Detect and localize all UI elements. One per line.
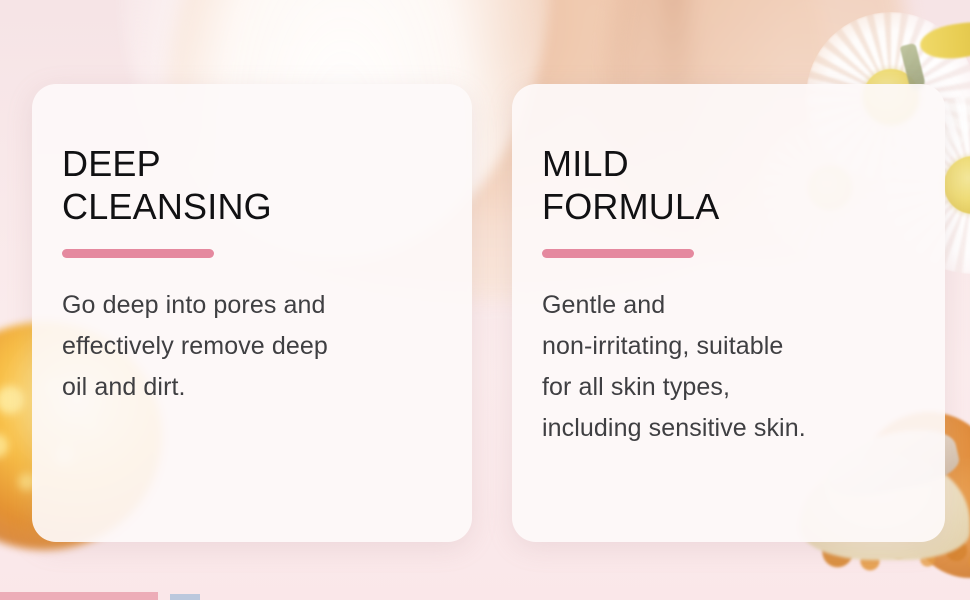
- feature-card-mild-formula[interactable]: MILD FORMULA Gentle and non-irritating, …: [512, 84, 945, 542]
- accent-rule: [542, 249, 694, 258]
- accent-rule: [62, 249, 214, 258]
- bottom-accent-chip: [170, 594, 200, 600]
- feature-cards-row: DEEP CLEANSING Go deep into pores and ef…: [0, 0, 970, 600]
- card-content: DEEP CLEANSING Go deep into pores and ef…: [62, 142, 426, 408]
- card-content: MILD FORMULA Gentle and non-irritating, …: [542, 142, 899, 449]
- card-description: Go deep into pores and effectively remov…: [62, 285, 426, 408]
- card-description: Gentle and non-irritating, suitable for …: [542, 285, 899, 449]
- bottom-accent-strip: [0, 592, 158, 600]
- card-title: MILD FORMULA: [542, 142, 899, 228]
- feature-card-deep-cleansing[interactable]: DEEP CLEANSING Go deep into pores and ef…: [32, 84, 472, 542]
- page-canvas: DEEP CLEANSING Go deep into pores and ef…: [0, 0, 970, 600]
- card-title: DEEP CLEANSING: [62, 142, 426, 228]
